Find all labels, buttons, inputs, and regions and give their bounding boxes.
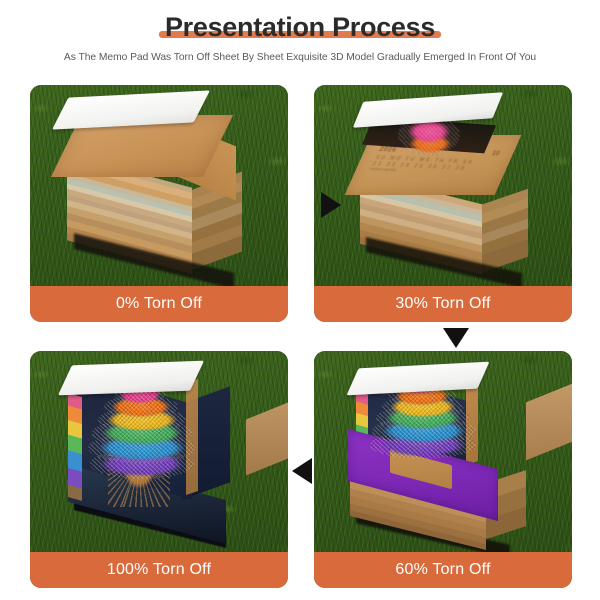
page-title: Presentation Process — [165, 13, 435, 41]
infographic-page: Presentation Process As The Memo Pad Was… — [0, 0, 600, 600]
panel-0-percent[interactable]: 0% Torn Off — [30, 85, 288, 322]
rainbow-paper-edge — [68, 393, 82, 501]
arrow-down-icon — [443, 328, 469, 348]
caption-label-60: 60% Torn Off — [395, 561, 490, 579]
arrow-right-icon — [321, 192, 341, 218]
panel-30-photo: 10 2026 SU MO TU WE TH FR SA 22 23 24 25… — [314, 85, 572, 286]
panel-100-percent[interactable]: 100% Torn Off — [30, 351, 288, 588]
page-title-wrap: Presentation Process — [0, 13, 600, 41]
white-paper-flap — [58, 361, 204, 396]
page-subtitle: As The Memo Pad Was Torn Off Sheet By Sh… — [0, 52, 600, 63]
caption-bar-100: 100% Torn Off — [30, 552, 288, 588]
caption-label-30: 30% Torn Off — [395, 295, 490, 313]
caption-bar-30: 30% Torn Off — [314, 286, 572, 322]
arrow-left-icon — [292, 458, 312, 484]
header: Presentation Process As The Memo Pad Was… — [0, 0, 600, 80]
panel-60-photo — [314, 351, 572, 552]
panel-30-percent[interactable]: 10 2026 SU MO TU WE TH FR SA 22 23 24 25… — [314, 85, 572, 322]
caption-bar-0: 0% Torn Off — [30, 286, 288, 322]
panel-0-photo — [30, 85, 288, 286]
caption-label-100: 100% Torn Off — [107, 561, 211, 579]
panel-100-photo — [30, 351, 288, 552]
panel-grid: 0% Torn Off 10 2026 SU MO TU WE TH FR SA… — [30, 85, 572, 588]
panel-60-percent[interactable]: 60% Torn Off — [314, 351, 572, 588]
caption-bar-60: 60% Torn Off — [314, 552, 572, 588]
caption-label-0: 0% Torn Off — [116, 295, 202, 313]
